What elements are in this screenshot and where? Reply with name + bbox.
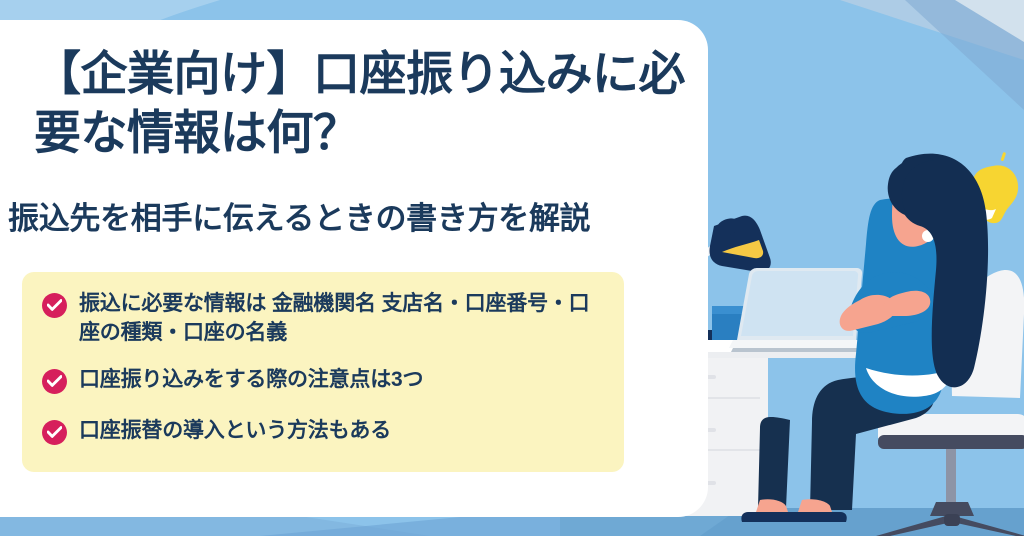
- list-item-label: 口座振り込みをする際の注意点は3つ: [79, 366, 423, 395]
- list-item-label: 口座振替の導入という方法もある: [79, 417, 391, 446]
- check-circle-icon: [42, 369, 67, 394]
- list-item: 口座振り込みをする際の注意点は3つ: [42, 366, 604, 395]
- check-circle-icon: [42, 420, 67, 445]
- page-title: 【企業向け】口座振り込みに必要な情報は何？: [34, 44, 694, 162]
- check-circle-icon: [42, 293, 67, 318]
- list-item: 口座振替の導入という方法もある: [42, 417, 604, 446]
- shoe-right: [787, 512, 846, 522]
- key-points-panel: 振込に必要な情報は 金融機関名 支店名・口座番号・口座の種類・口座の名義 口座振…: [22, 272, 624, 472]
- banner-canvas: 【企業向け】口座振り込みに必要な情報は何？ 振込先を相手に伝えるときの書き方を解…: [0, 0, 1024, 536]
- list-item-label: 振込に必要な情報は 金融機関名 支店名・口座番号・口座の種類・口座の名義: [79, 290, 604, 348]
- list-item: 振込に必要な情報は 金融機関名 支店名・口座番号・口座の種類・口座の名義: [42, 290, 604, 348]
- page-subtitle: 振込先を相手に伝えるときの書き方を解説: [8, 200, 698, 237]
